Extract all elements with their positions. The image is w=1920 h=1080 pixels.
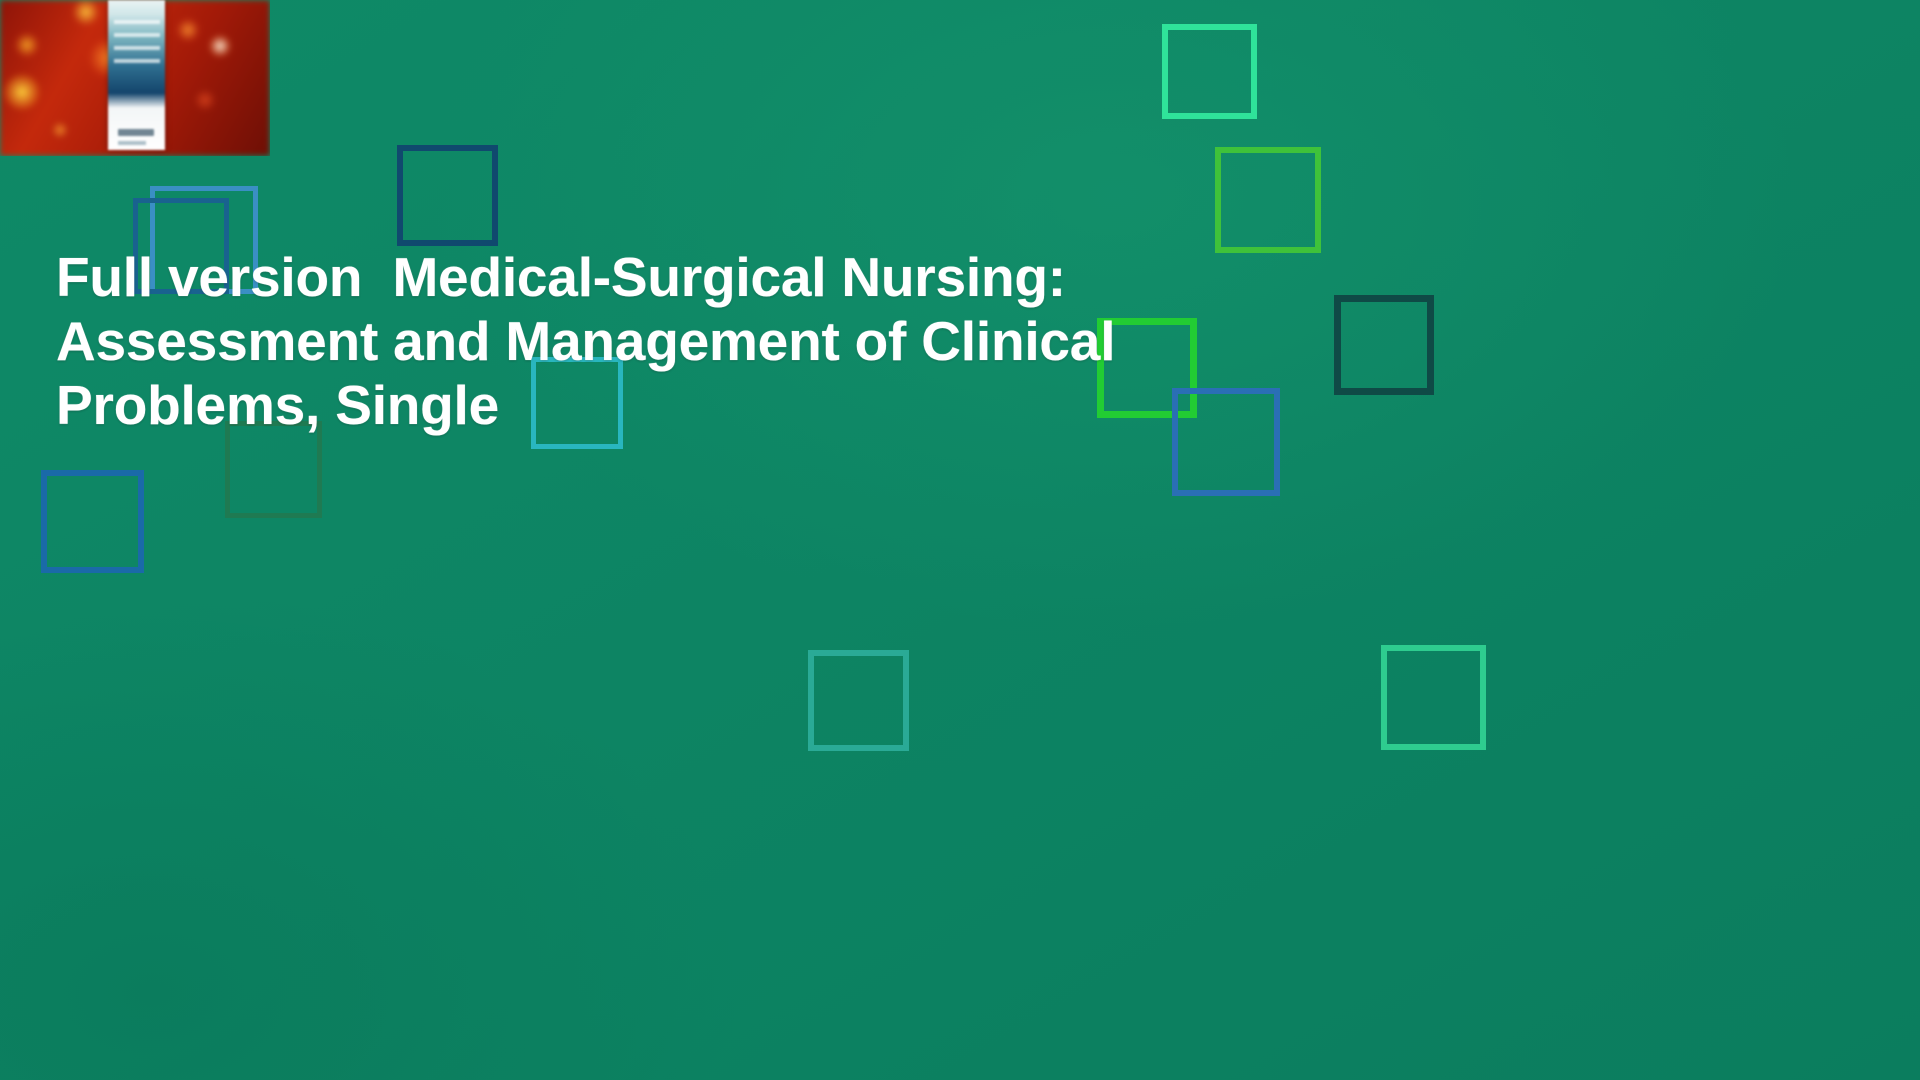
book-cover-publisher-logo: [118, 129, 154, 136]
background-gradient: [0, 0, 1920, 1080]
square-navy-right: [1334, 295, 1434, 395]
book-cover-image: [108, 0, 165, 150]
square-navy-upper-mid: [397, 145, 498, 246]
square-lime-top-right: [1215, 147, 1321, 253]
square-mint-bottom-right: [1381, 645, 1486, 750]
square-mint-top-right: [1162, 24, 1257, 119]
book-cover-thumbnail: [0, 0, 270, 156]
title-block: Full version Medical-Surgical Nursing: A…: [56, 245, 1236, 437]
square-blue-bottom-left: [41, 470, 144, 573]
page-title: Full version Medical-Surgical Nursing: A…: [56, 245, 1236, 437]
square-teal-bottom-mid: [808, 650, 909, 751]
book-cover-subtext: [118, 141, 146, 145]
promo-card: Full version Medical-Surgical Nursing: A…: [0, 0, 1920, 1080]
book-cover-title-lines: [114, 20, 160, 72]
